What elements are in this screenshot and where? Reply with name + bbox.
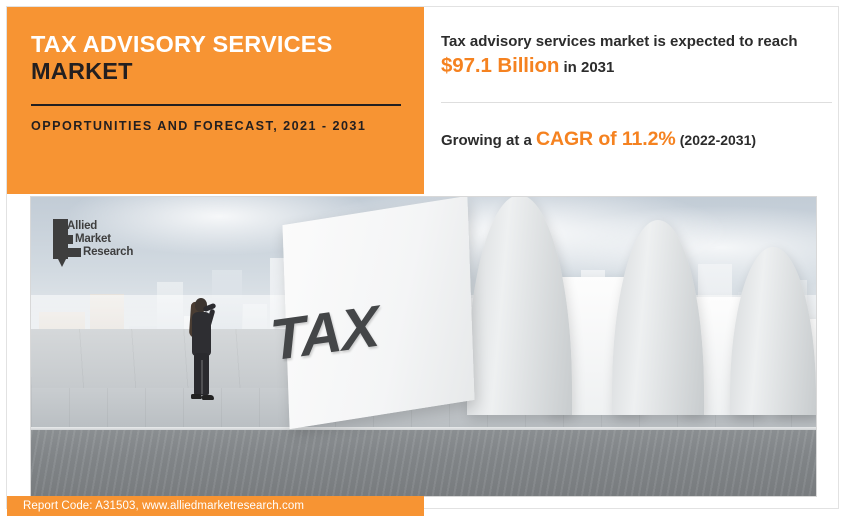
infographic-poster: TAX ADVISORY SERVICES MARKET OPPORTUNITI… xyxy=(0,0,847,516)
allied-market-research-logo: Allied Market Research xyxy=(53,219,149,267)
logo-line-1: Allied xyxy=(67,221,97,233)
title-line-secondary: MARKET xyxy=(31,58,133,84)
businesswoman-figure xyxy=(184,298,218,406)
stats-divider xyxy=(441,102,832,103)
market-value-statement: Tax advisory services market is expected… xyxy=(441,32,832,80)
logo-line-2: Market xyxy=(75,234,111,246)
market-value-prefix: Tax advisory services market is expected… xyxy=(441,33,798,50)
speech-bubble-icon xyxy=(57,257,67,267)
cagr-figure: CAGR of 11.2% xyxy=(536,128,676,150)
hero-photo: TAX Allied Market xyxy=(30,196,817,497)
report-code-text: Report Code: A31503, www.alliedmarketres… xyxy=(23,500,304,512)
title-line-primary: TAX ADVISORY SERVICES xyxy=(31,31,333,57)
concrete-parapet xyxy=(31,430,816,496)
title-divider xyxy=(31,104,401,106)
page-title: TAX ADVISORY SERVICES MARKET xyxy=(31,31,392,86)
stats-panel: Tax advisory services market is expected… xyxy=(441,7,832,177)
header-panel: TAX ADVISORY SERVICES MARKET OPPORTUNITI… xyxy=(7,7,424,194)
cagr-prefix: Growing at a xyxy=(441,132,532,149)
cagr-statement: Growing at a CAGR of 11.2% (2022-2031) xyxy=(441,126,832,152)
cagr-period: (2022-2031) xyxy=(680,132,756,148)
market-value-figure: $97.1 Billion xyxy=(441,54,559,77)
page-subtitle: OPPORTUNITIES AND FORECAST, 2021 - 2031 xyxy=(31,118,392,134)
logo-line-3: Research xyxy=(83,247,133,259)
market-value-suffix: in 2031 xyxy=(564,59,615,76)
